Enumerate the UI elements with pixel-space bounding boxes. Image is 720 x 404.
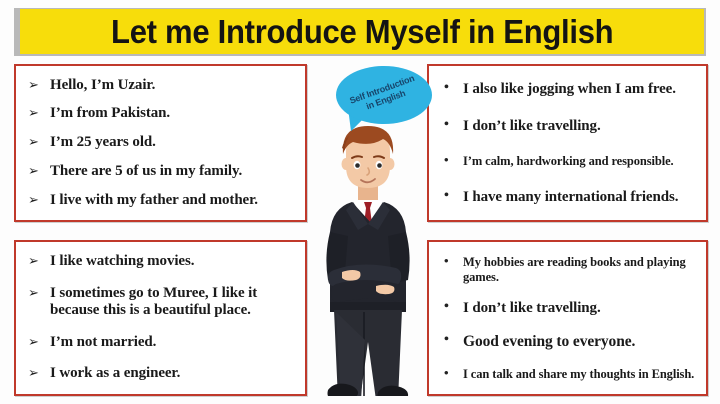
- list-item: I sometimes go to Muree, I like it becau…: [26, 285, 297, 320]
- content-box-bottom-right: My hobbies are reading books and playing…: [427, 240, 708, 396]
- list-item: I’m from Pakistan.: [26, 105, 297, 123]
- title-banner: Let me Introduce Myself in English: [14, 8, 706, 56]
- banner-fill: Let me Introduce Myself in English: [20, 9, 704, 54]
- list-item: I’m calm, hardworking and responsible.: [439, 154, 698, 169]
- list-item: My hobbies are reading books and playing…: [439, 255, 698, 285]
- list-item: Hello, I’m Uzair.: [26, 77, 297, 95]
- list-item: I also like jogging when I am free.: [439, 81, 698, 99]
- content-box-top-right: I also like jogging when I am free. I do…: [427, 64, 708, 222]
- bullet-list-top-left: Hello, I’m Uzair. I’m from Pakistan. I’m…: [16, 66, 305, 220]
- list-item: Good evening to everyone.: [439, 333, 698, 351]
- list-item: I don’t like travelling.: [439, 118, 698, 136]
- list-item: I’m 25 years old.: [26, 134, 297, 152]
- list-item: I have many international friends.: [439, 189, 698, 207]
- list-item: There are 5 of us in my family.: [26, 163, 297, 181]
- businessman-illustration: [306, 120, 430, 396]
- list-item: I don’t like travelling.: [439, 300, 698, 318]
- content-box-top-left: Hello, I’m Uzair. I’m from Pakistan. I’m…: [14, 64, 307, 222]
- list-item: I live with my father and mother.: [26, 192, 297, 210]
- content-box-bottom-left: I like watching movies. I sometimes go t…: [14, 240, 307, 396]
- list-item: I’m not married.: [26, 334, 297, 352]
- infographic-canvas: Let me Introduce Myself in English Hello…: [0, 0, 720, 404]
- bullet-list-top-right: I also like jogging when I am free. I do…: [429, 66, 706, 220]
- list-item: I like watching movies.: [26, 253, 297, 271]
- speech-bubble: Self Introduction in English: [336, 66, 432, 124]
- bullet-list-bottom-left: I like watching movies. I sometimes go t…: [16, 242, 305, 394]
- page-title: Let me Introduce Myself in English: [111, 15, 613, 48]
- list-item: I work as a engineer.: [26, 365, 297, 383]
- list-item: I can talk and share my thoughts in Engl…: [439, 367, 698, 382]
- bullet-list-bottom-right: My hobbies are reading books and playing…: [429, 242, 706, 394]
